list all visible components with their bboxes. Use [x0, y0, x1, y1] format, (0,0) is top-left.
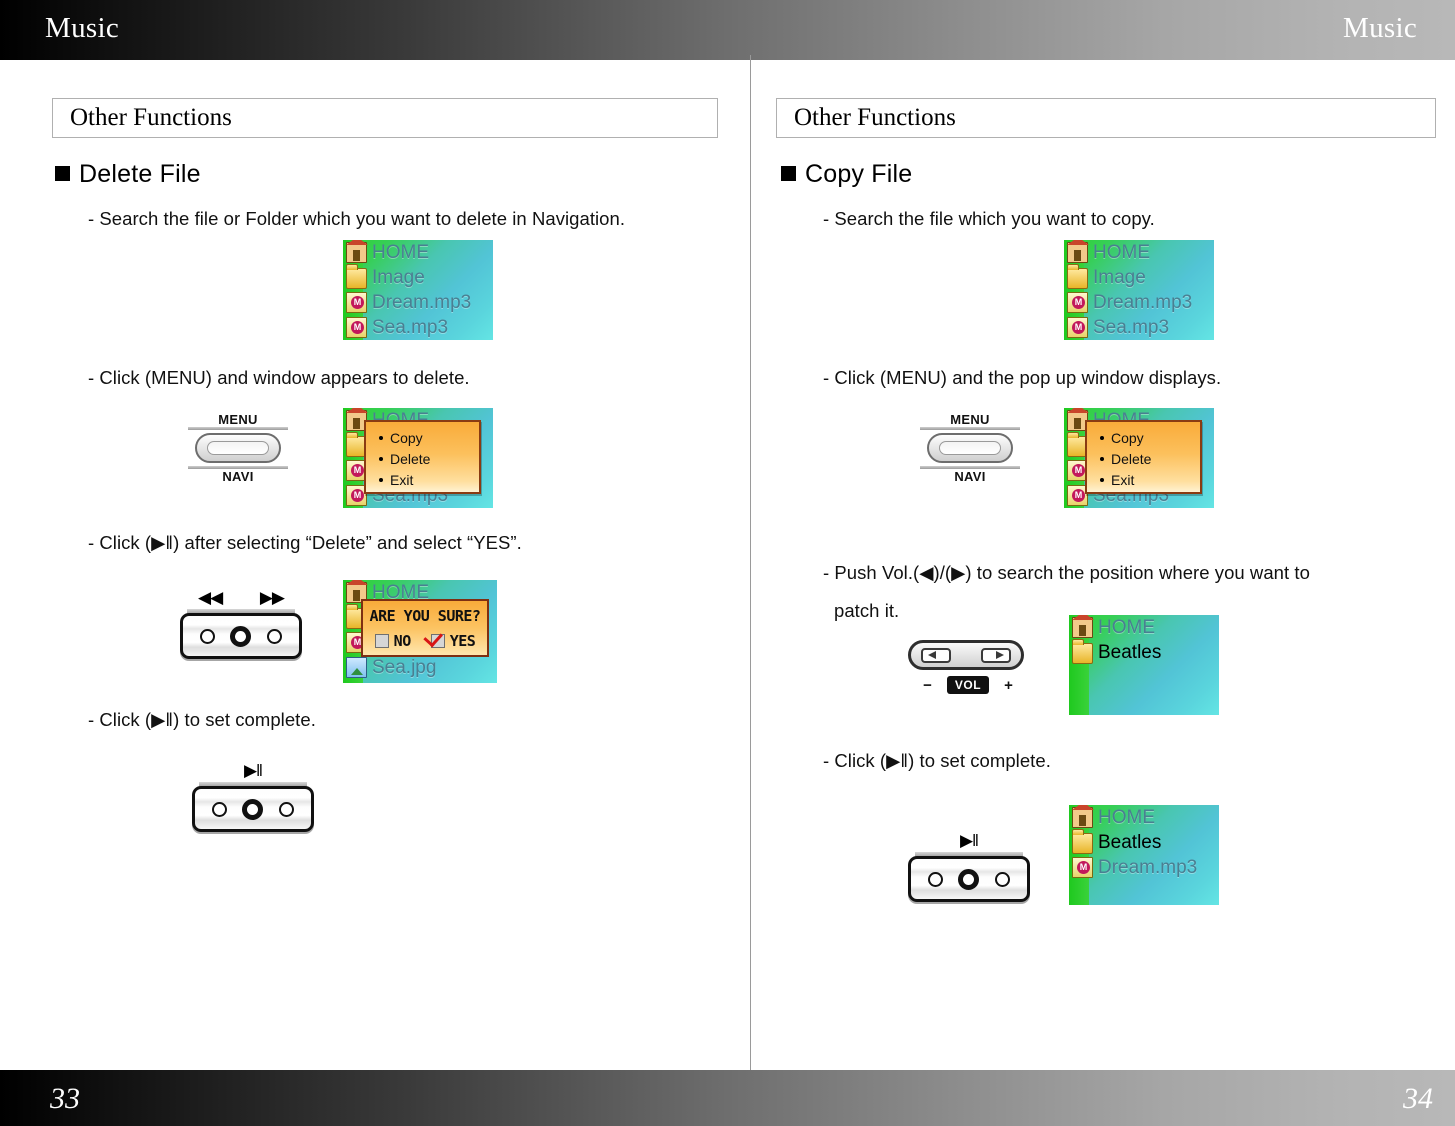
folder-icon: [1067, 268, 1088, 289]
left-page: Other Functions Delete File - Search the…: [0, 60, 750, 1070]
transport-bar[interactable]: [180, 613, 302, 659]
mp3-icon: [1067, 317, 1088, 338]
left-confirm-dialog[interactable]: ARE YOU SURE? NO YES: [361, 599, 489, 657]
transport-icon-row: ▶‖: [908, 830, 1030, 852]
lcd-row: HOME: [1064, 240, 1214, 265]
popup-item-label: Delete: [390, 451, 430, 467]
right-popup-menu[interactable]: Copy Delete Exit: [1085, 420, 1202, 494]
confirm-option-no[interactable]: NO: [375, 632, 411, 651]
lcd-row-label: Beatles: [1098, 642, 1161, 664]
lcd-row-label: Sea.mp3: [372, 317, 448, 339]
transport-icon-row: ▶‖: [192, 760, 314, 782]
lcd-row: Dream.mp3: [1064, 290, 1214, 315]
confirm-yes-label: YES: [450, 632, 476, 650]
popup-item-label: Copy: [390, 430, 423, 446]
transport-icon-row: ◀◀ ▶▶: [180, 587, 302, 609]
center-knob[interactable]: [242, 799, 263, 820]
popup-item-label: Exit: [390, 472, 413, 488]
lcd-row: HOME: [1069, 615, 1219, 640]
footer-band: [0, 1070, 1455, 1126]
left-step-4: - Click (▶‖) to set complete.: [88, 709, 316, 731]
lcd-row-label: HOME: [372, 242, 429, 264]
lcd-row-label: Image: [372, 267, 425, 289]
navi-label: NAVI: [920, 469, 1020, 484]
vol-tag-label: VOL: [947, 676, 989, 694]
right-knob[interactable]: [267, 629, 282, 644]
center-knob[interactable]: [230, 626, 251, 647]
lcd-row: Dream.mp3: [343, 290, 493, 315]
bullet-square-icon: [781, 166, 796, 181]
popup-item-label: Copy: [1111, 430, 1144, 446]
popup-item-delete[interactable]: Delete: [1087, 449, 1200, 470]
right-step-3-line2: patch it.: [834, 600, 899, 622]
left-transport-rew-ff[interactable]: ◀◀ ▶▶: [180, 587, 302, 659]
right-menu-navi-button[interactable]: MENU NAVI: [920, 412, 1020, 484]
fast-forward-icon[interactable]: ▶▶: [260, 588, 284, 608]
divider: [188, 427, 288, 430]
popup-item-exit[interactable]: Exit: [1087, 470, 1200, 491]
header-title-right: Music: [1343, 12, 1417, 45]
mp3-icon: [1072, 857, 1093, 878]
header-title-left: Music: [45, 12, 119, 45]
home-icon: [346, 242, 367, 263]
lcd-row: Sea.mp3: [1064, 315, 1214, 340]
center-knob[interactable]: [958, 869, 979, 890]
right-sub-heading-label: Copy File: [805, 160, 912, 188]
lcd-row: Image: [1064, 265, 1214, 290]
mp3-icon: [1067, 292, 1088, 313]
mp3-icon: [346, 317, 367, 338]
manual-page-spread: Music Music Other Functions Delete File …: [0, 0, 1455, 1126]
lcd-row-label: Sea.mp3: [1093, 317, 1169, 339]
popup-item-copy[interactable]: Copy: [366, 428, 479, 449]
lcd-row-label: HOME: [1098, 807, 1155, 829]
confirm-no-label: NO: [394, 632, 411, 650]
header-band: Music Music: [0, 0, 1455, 60]
vol-right-arrow-icon[interactable]: [981, 648, 1011, 663]
left-step-3: - Click (▶‖) after selecting “Delete” an…: [88, 532, 522, 554]
right-screen-navigation: HOME Image Dream.mp3 Sea.mp3: [1064, 240, 1214, 340]
right-section-title: Other Functions: [776, 98, 1436, 138]
right-screen-copied: HOME Beatles Dream.mp3: [1069, 805, 1219, 905]
right-step-2: - Click (MENU) and the pop up window dis…: [823, 367, 1221, 389]
left-section-title: Other Functions: [52, 98, 718, 138]
right-knob[interactable]: [279, 802, 294, 817]
confirm-dialog-title: ARE YOU SURE?: [363, 607, 487, 625]
transport-bar[interactable]: [908, 856, 1030, 902]
right-knob[interactable]: [995, 872, 1010, 887]
lcd-row-label: Dream.mp3: [372, 292, 471, 314]
left-knob[interactable]: [212, 802, 227, 817]
right-vol-control[interactable]: − VOL +: [908, 640, 1028, 694]
menu-navi-pill-inner: [207, 441, 269, 455]
folder-icon: [1072, 643, 1093, 664]
right-screen-menu-popup: HOME Image Dream.mp3 Sea.mp3 Copy Delete: [1064, 408, 1214, 508]
lcd-row: Beatles: [1069, 640, 1219, 665]
divider: [920, 427, 1020, 430]
page-number-right: 34: [1403, 1082, 1433, 1116]
left-step-1: - Search the file or Folder which you wa…: [88, 208, 625, 230]
left-transport-play[interactable]: ▶‖: [192, 760, 314, 832]
menu-label: MENU: [188, 412, 288, 427]
lcd-row-label: Beatles: [1098, 832, 1161, 854]
right-step-3-line1: - Push Vol.(◀)/(▶) to search the positio…: [823, 562, 1310, 584]
bullet-dot-icon: [379, 478, 383, 482]
checkbox-unchecked-icon[interactable]: [375, 634, 389, 648]
lcd-row-label: Dream.mp3: [1093, 292, 1192, 314]
lcd-row: Sea.mp3: [343, 315, 493, 340]
left-knob[interactable]: [200, 629, 215, 644]
left-popup-menu[interactable]: Copy Delete Exit: [364, 420, 481, 494]
folder-icon: [346, 268, 367, 289]
lcd-row-label: Image: [1093, 267, 1146, 289]
home-icon: [1067, 242, 1088, 263]
left-sub-heading: Delete File: [55, 160, 201, 189]
right-screen-beatles: HOME Beatles: [1069, 615, 1219, 715]
vol-rocker[interactable]: [908, 640, 1024, 670]
left-sub-heading-label: Delete File: [79, 160, 201, 188]
lcd-row: Sea.jpg: [343, 655, 497, 680]
lcd-row-label: Dream.mp3: [1098, 857, 1197, 879]
popup-item-exit[interactable]: Exit: [366, 470, 479, 491]
right-step-1: - Search the file which you want to copy…: [823, 208, 1155, 230]
transport-bar[interactable]: [192, 786, 314, 832]
right-sub-heading: Copy File: [781, 160, 912, 189]
popup-item-copy[interactable]: Copy: [1087, 428, 1200, 449]
bullet-dot-icon: [379, 436, 383, 440]
left-screen-menu-popup: HOME Image Dream.mp3 Sea.mp3 Copy Delete: [343, 408, 493, 508]
right-transport-play[interactable]: ▶‖: [908, 830, 1030, 902]
left-step-2: - Click (MENU) and window appears to del…: [88, 367, 470, 389]
checkbox-checked-icon[interactable]: [431, 634, 445, 648]
popup-item-label: Delete: [1111, 451, 1151, 467]
bullet-dot-icon: [1100, 436, 1104, 440]
mp3-icon: [346, 292, 367, 313]
home-icon: [1072, 807, 1093, 828]
rewind-icon[interactable]: ◀◀: [198, 588, 222, 608]
bullet-dot-icon: [379, 457, 383, 461]
navi-label: NAVI: [188, 469, 288, 484]
vol-minus-label: −: [923, 677, 932, 694]
lcd-row-label: Sea.jpg: [372, 657, 436, 679]
popup-item-delete[interactable]: Delete: [366, 449, 479, 470]
play-pause-icon[interactable]: ▶‖: [244, 761, 262, 781]
confirm-dialog-options: NO YES: [363, 632, 487, 651]
bullet-dot-icon: [1100, 478, 1104, 482]
play-pause-icon[interactable]: ▶‖: [960, 831, 978, 851]
lcd-row: Dream.mp3: [1069, 855, 1219, 880]
bullet-square-icon: [55, 166, 70, 181]
left-screen-confirm: HOME Sea.jpg ARE YOU SURE? NO YES: [343, 580, 497, 683]
menu-navi-pill[interactable]: [195, 433, 281, 463]
home-icon: [1072, 617, 1093, 638]
jpg-icon: [346, 657, 367, 678]
lcd-row: HOME: [343, 240, 493, 265]
confirm-option-yes[interactable]: YES: [431, 632, 476, 651]
right-step-4: - Click (▶‖) to set complete.: [823, 750, 1051, 772]
popup-item-label: Exit: [1111, 472, 1134, 488]
menu-navi-pill[interactable]: [927, 433, 1013, 463]
menu-label: MENU: [920, 412, 1020, 427]
left-menu-navi-button[interactable]: MENU NAVI: [188, 412, 288, 484]
lcd-row: Beatles: [1069, 830, 1219, 855]
folder-icon: [1072, 833, 1093, 854]
lcd-row-label: HOME: [1098, 617, 1155, 639]
bullet-dot-icon: [1100, 457, 1104, 461]
vol-labels: − VOL +: [908, 676, 1028, 694]
vol-left-arrow-icon[interactable]: [921, 648, 951, 663]
right-page: Other Functions Copy File - Search the f…: [751, 60, 1455, 1070]
vol-plus-label: +: [1004, 677, 1013, 694]
lcd-row-label: HOME: [1093, 242, 1150, 264]
left-knob[interactable]: [928, 872, 943, 887]
lcd-row: HOME: [1069, 805, 1219, 830]
menu-navi-pill-inner: [939, 441, 1001, 455]
left-screen-navigation: HOME Image Dream.mp3 Sea.mp3: [343, 240, 493, 340]
page-number-left: 33: [50, 1082, 80, 1116]
lcd-row: Image: [343, 265, 493, 290]
